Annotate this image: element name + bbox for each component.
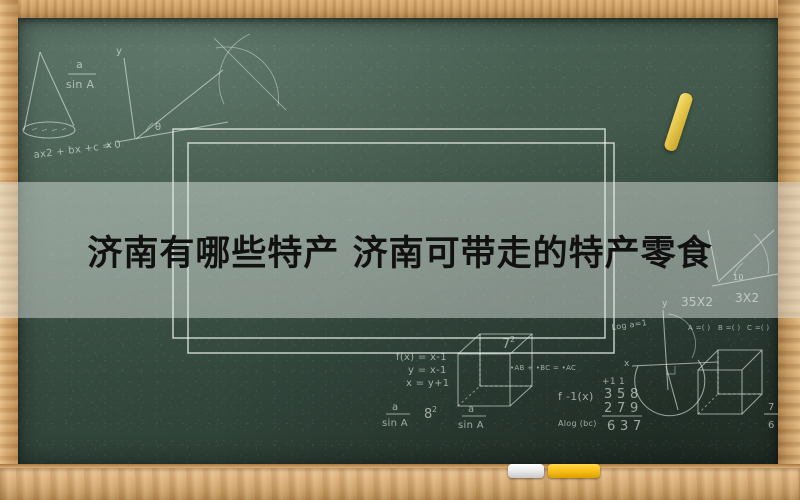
addend-one: 3 5 8 (604, 387, 639, 402)
sine-rule-mid-denominator: sin A (458, 420, 484, 431)
log-a-equals-one: Log a=1 (611, 318, 648, 332)
cube-wireframe-right (698, 350, 762, 414)
arc-construction-diagram (214, 34, 286, 110)
cone-fraction-numerator: a (76, 58, 83, 71)
log-expression-bottom: Alog (bc) (558, 419, 597, 428)
inverse-function-text: f -1(x) (558, 390, 594, 403)
addend-two: 2 7 9 (604, 401, 639, 416)
fraction-denominator-right: 6 (768, 420, 775, 431)
page-title: 济南有哪些特产 济南可带走的特产零食 (0, 182, 800, 318)
axis-label-y-topleft: y (116, 46, 122, 57)
quadratic-equation-text: ax2 + bx +c = 0 (33, 139, 122, 161)
function-line-3: x = y+1 (406, 378, 449, 389)
addition-carry: +1 1 (602, 377, 625, 387)
sine-rule-left-numerator: a (392, 402, 398, 413)
chalk-stick-white[interactable] (508, 464, 544, 478)
cone-fraction-denominator: sin A (66, 78, 94, 91)
sine-rule-left-denominator: sin A (382, 418, 408, 429)
sine-rule-mid-numerator: a (468, 404, 474, 415)
angle-label-theta-topleft: θ (155, 122, 161, 133)
matrix-b-text: B =( ) (718, 324, 740, 332)
frame-top-rail (0, 0, 800, 18)
chalk-ledge (0, 468, 800, 500)
function-line-2: y = x-1 (408, 365, 447, 376)
vector-sum-text: •AB + •BC = •AC (510, 364, 576, 372)
chalkboard-banner: a sin A y x θ ax2 + bx +c = 0 (0, 0, 800, 500)
addition-sum: 6 3 7 (607, 419, 642, 434)
function-line-1: f(x) = x-1 (396, 352, 447, 363)
matrix-c-text: C =( ) (747, 324, 769, 332)
cone-diagram (23, 52, 75, 138)
fraction-numerator-right: 7 (768, 402, 775, 413)
chalk-stick-yellow[interactable] (548, 464, 600, 478)
axis-label-x-right: x (624, 359, 630, 369)
exponent-seven-sup: 2 (510, 335, 515, 344)
exponent-eight-sup: 2 (432, 405, 437, 414)
